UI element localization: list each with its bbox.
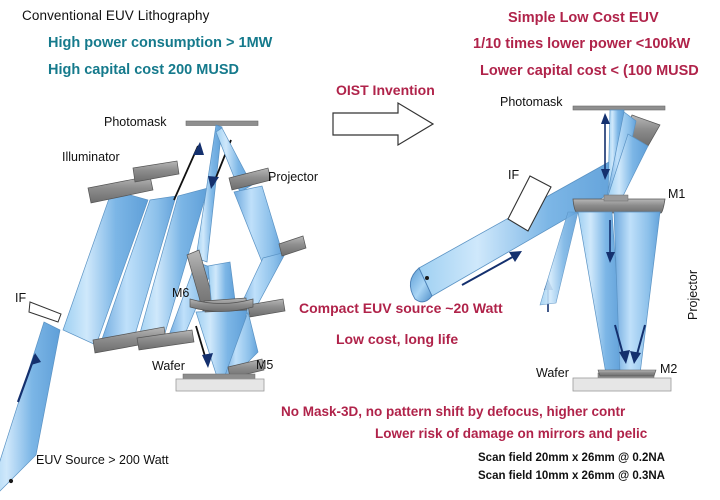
right-bullet-power: 1/10 times lower power <100kW — [473, 36, 690, 52]
right-label-if: IF — [508, 168, 519, 182]
right-label-projector: Projector — [686, 270, 700, 320]
left-label-projector: Projector — [268, 170, 318, 184]
left-label-photomask: Photomask — [104, 115, 167, 129]
right-photomask-bar — [573, 106, 665, 110]
left-label-illuminator: Illuminator — [62, 150, 120, 164]
left-wafer-stage — [176, 374, 264, 391]
left-label-wafer: Wafer — [152, 359, 185, 373]
right-photomask-arrows — [601, 113, 610, 180]
left-label-source: EUV Source > 200 Watt — [36, 453, 169, 467]
left-bullet-power: High power consumption > 1MW — [48, 35, 272, 51]
claim-low-cost: Low cost, long life — [336, 331, 458, 347]
transition-caption: OIST Invention — [336, 82, 435, 98]
left-source-beam — [0, 322, 60, 500]
left-photomask-bar — [186, 121, 258, 126]
claim-no-mask3d: No Mask-3D, no pattern shift by defocus,… — [281, 404, 625, 419]
claim-lower-risk: Lower risk of damage on mirrors and peli… — [375, 426, 647, 441]
right-arrow-icon — [333, 103, 433, 145]
scan-spec-03na: Scan field 10mm x 26mm @ 0.3NA — [478, 470, 665, 482]
left-panel-title: Conventional EUV Lithography — [22, 8, 209, 23]
right-label-wafer: Wafer — [536, 366, 569, 380]
left-label-m5: M5 — [256, 358, 273, 372]
scan-spec-02na: Scan field 20mm x 26mm @ 0.2NA — [478, 452, 665, 464]
right-bullet-cost: Lower capital cost < (100 MUSD — [480, 63, 699, 79]
left-projector-beams — [196, 128, 286, 380]
claim-compact-source: Compact EUV source ~20 Watt — [299, 300, 503, 316]
right-label-photomask: Photomask — [500, 95, 563, 109]
euv-lithography-comparison-diagram: Conventional EUV Lithography High power … — [0, 0, 720, 500]
left-label-if: IF — [15, 291, 26, 305]
right-label-m1: M1 — [668, 187, 685, 201]
left-label-m6: M6 — [172, 286, 189, 300]
right-wafer-stage — [573, 370, 671, 391]
right-panel-title: Simple Low Cost EUV — [508, 10, 659, 26]
left-bullet-cost: High capital cost 200 MUSD — [48, 62, 239, 78]
right-label-m2: M2 — [660, 362, 677, 376]
